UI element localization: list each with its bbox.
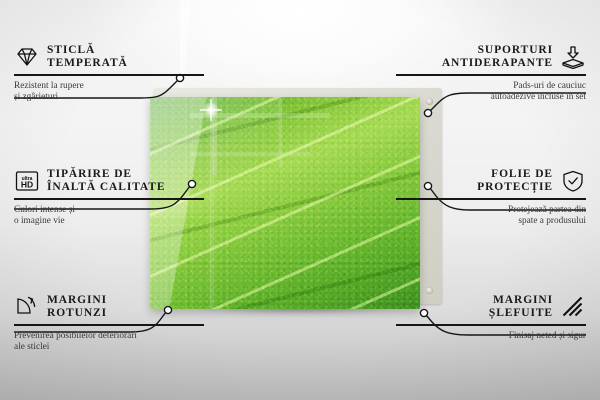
feature-title: FOLIE DE PROTECȚIE <box>477 168 553 194</box>
feature-desc-line2: autoadezive incluse în set <box>396 92 586 103</box>
feature-print-quality: ultra HD TIPĂRIRE DE ÎNALTĂ CALITATE Cul… <box>14 168 204 227</box>
shield-check-icon <box>560 169 586 193</box>
feature-desc-line2: și zgârieturi <box>14 92 204 103</box>
feature-protective-film: FOLIE DE PROTECȚIE Protejează partea din… <box>396 168 586 227</box>
feature-desc-line1: Rezistent la rupere <box>14 81 204 92</box>
feature-header: FOLIE DE PROTECȚIE <box>396 168 586 194</box>
feature-tempered-glass: STICLĂ TEMPERATĂ Rezistent la rupere și … <box>14 44 204 103</box>
feature-desc-line2: o imagine vie <box>14 216 204 227</box>
feature-divider <box>14 198 204 200</box>
feature-desc-line1: Pads-uri de cauciuc <box>396 81 586 92</box>
ultra-hd-icon: ultra HD <box>14 169 40 193</box>
feature-desc-line2: spate a produsului <box>396 216 586 227</box>
feature-desc-line1: Protejează partea din <box>396 205 586 216</box>
pad-arrow-icon <box>560 45 586 69</box>
feature-title: MARGINI ROTUNZI <box>47 294 107 320</box>
feature-divider <box>14 74 204 76</box>
promo-infographic: STICLĂ TEMPERATĂ Rezistent la rupere și … <box>0 0 600 400</box>
feature-desc-line1: Finisaj neted și sigur <box>396 331 586 342</box>
rounded-corner-icon <box>14 295 40 319</box>
feature-divider <box>396 198 586 200</box>
feature-desc-line1: Culori intense și <box>14 205 204 216</box>
feature-header: MARGINI ȘLEFUITE <box>396 294 586 320</box>
feature-title: SUPORTURI ANTIDERAPANTE <box>442 44 553 70</box>
ultra-hd-icon-large-label: HD <box>21 180 33 190</box>
feature-title: MARGINI ȘLEFUITE <box>489 294 553 320</box>
diamond-icon <box>14 45 40 69</box>
feature-polished-edges: MARGINI ȘLEFUITE Finisaj neted și sigur <box>396 294 586 342</box>
hatch-lines-icon <box>560 295 586 319</box>
feature-header: SUPORTURI ANTIDERAPANTE <box>396 44 586 70</box>
feature-rounded-edges: MARGINI ROTUNZI Prevenirea posibilelor d… <box>14 294 204 353</box>
feature-header: MARGINI ROTUNZI <box>14 294 204 320</box>
feature-divider <box>14 324 204 326</box>
feature-header: ultra HD TIPĂRIRE DE ÎNALTĂ CALITATE <box>14 168 204 194</box>
feature-title: TIPĂRIRE DE ÎNALTĂ CALITATE <box>47 168 165 194</box>
feature-desc-line2: ale sticlei <box>14 342 204 353</box>
feature-divider <box>396 324 586 326</box>
feature-desc-line1: Prevenirea posibilelor deteriorări <box>14 331 204 342</box>
rubber-pad-bottom-right <box>426 287 433 294</box>
feature-divider <box>396 74 586 76</box>
feature-title: STICLĂ TEMPERATĂ <box>47 44 128 70</box>
feature-anti-slip: SUPORTURI ANTIDERAPANTE Pads-uri de cauc… <box>396 44 586 103</box>
feature-header: STICLĂ TEMPERATĂ <box>14 44 204 70</box>
